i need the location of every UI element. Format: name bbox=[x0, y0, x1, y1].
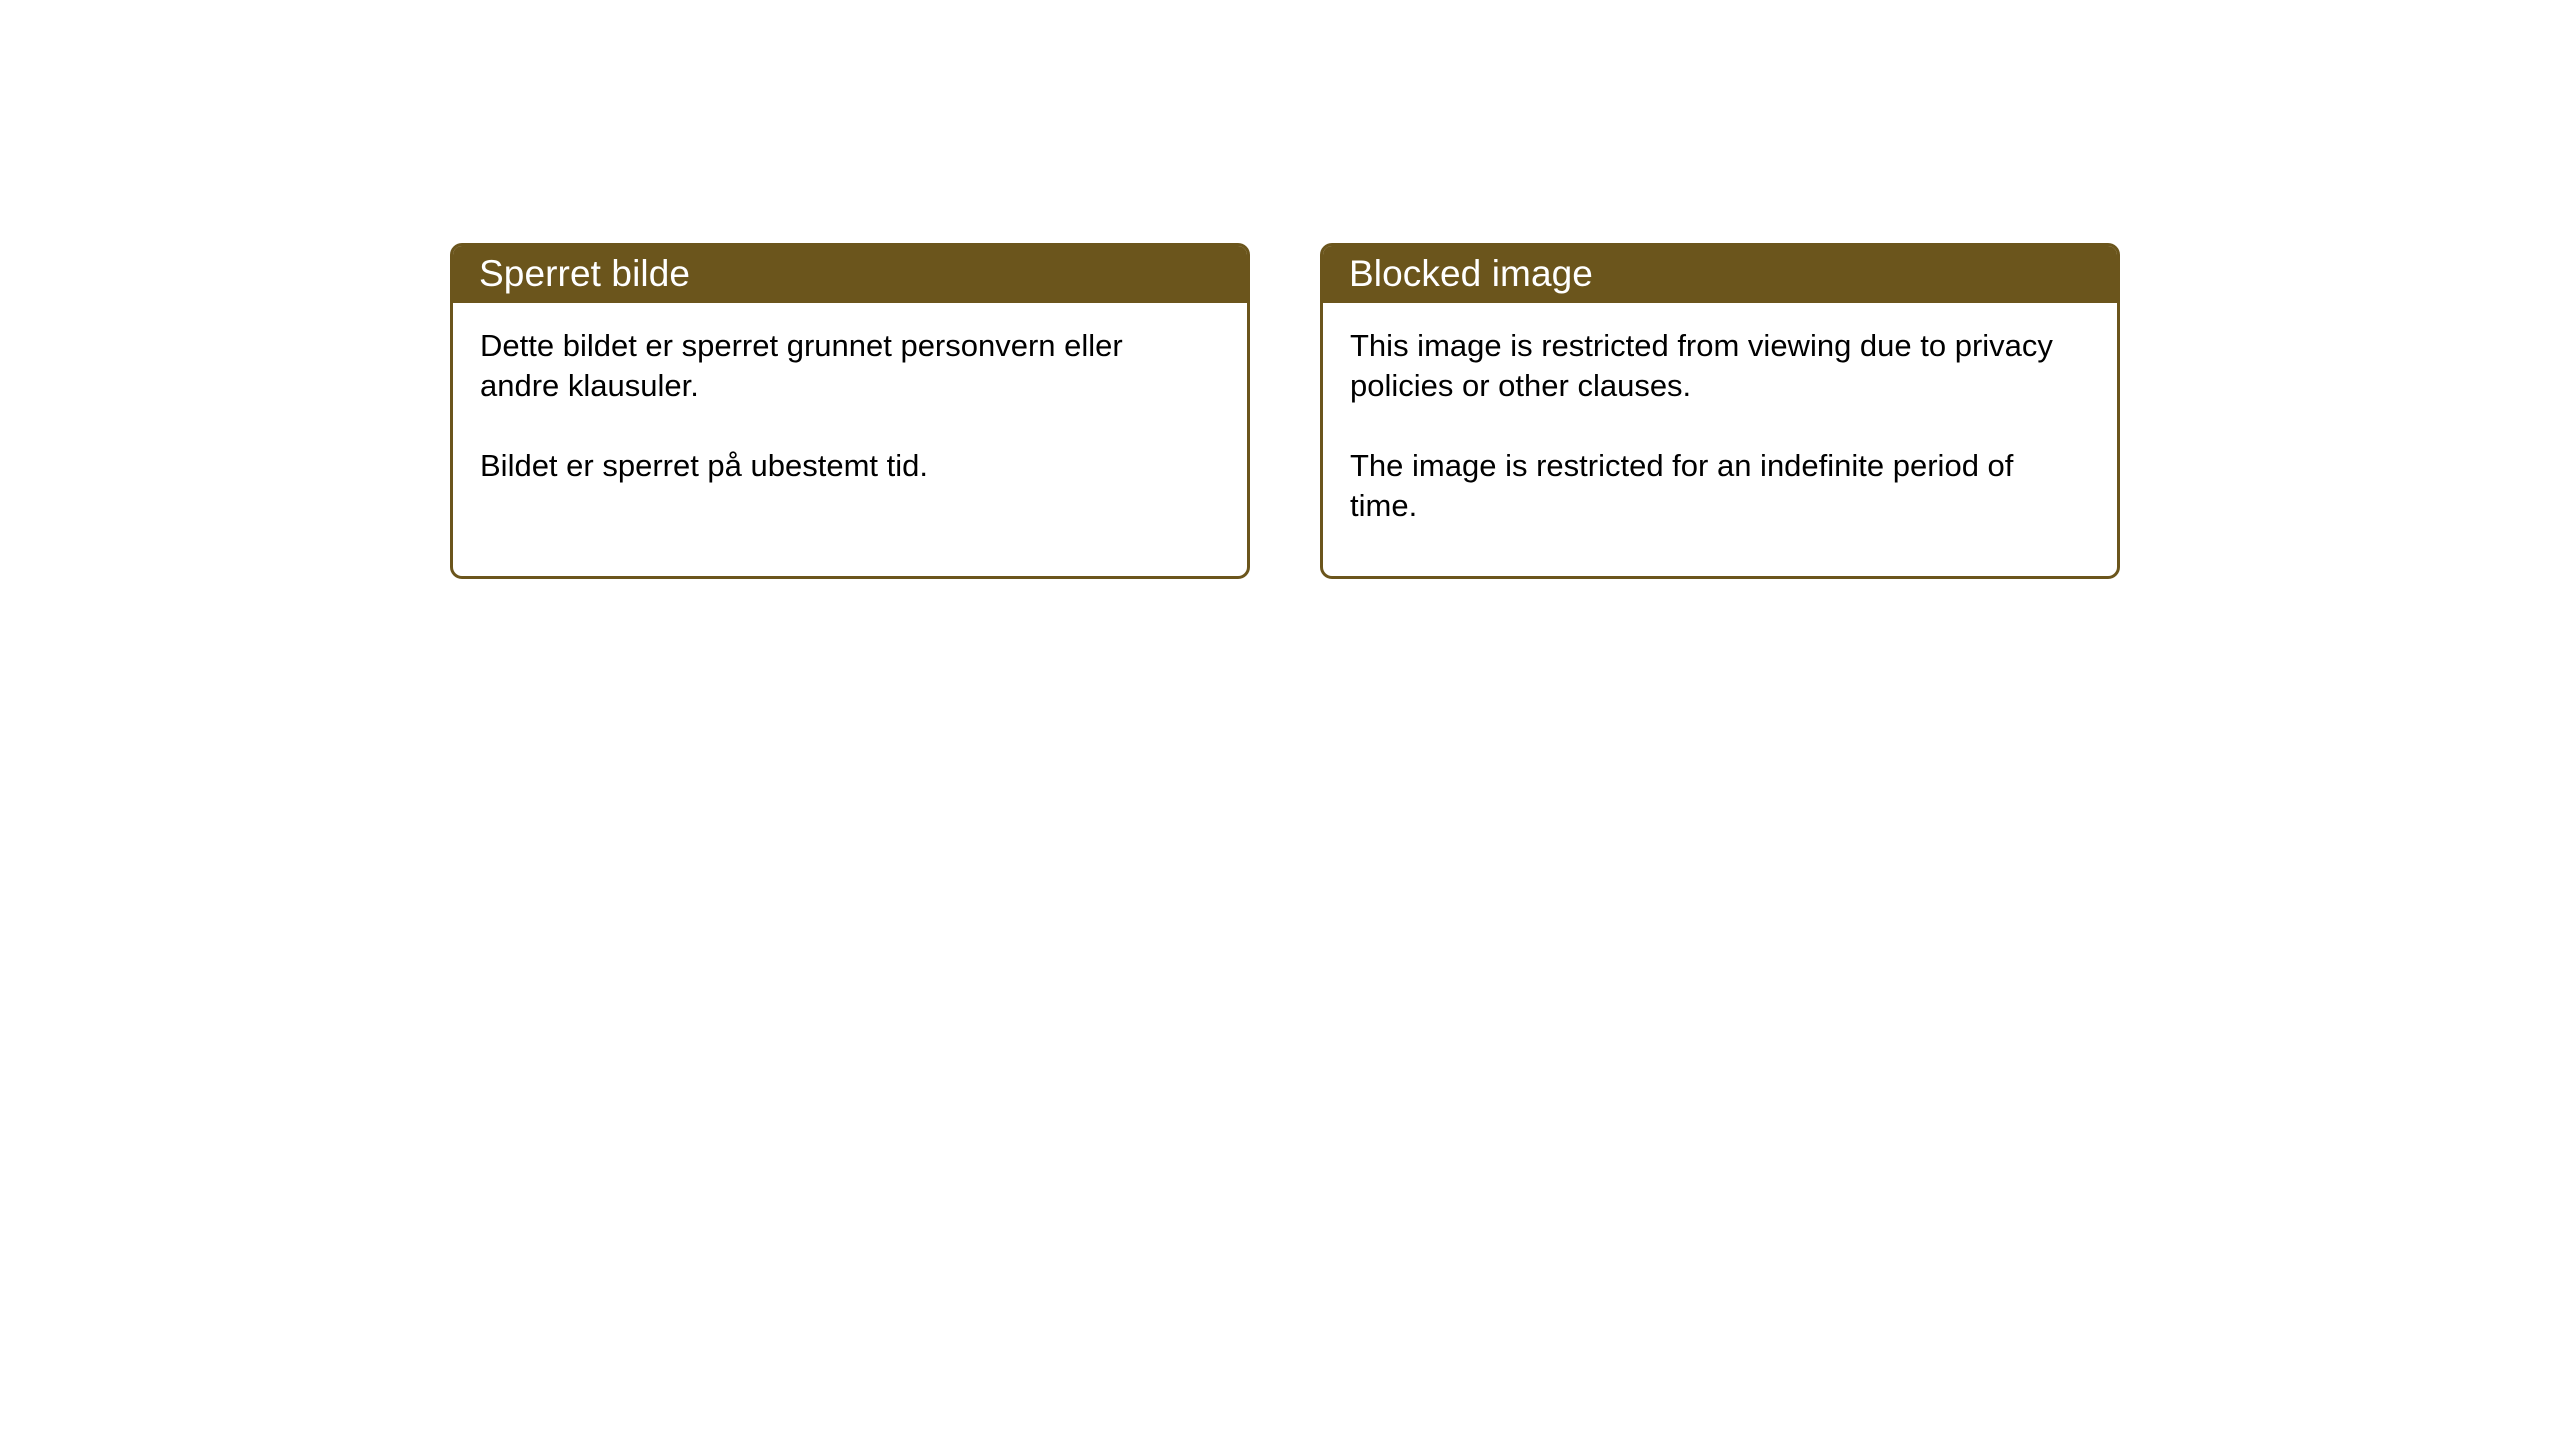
panel-body-english: This image is restricted from viewing du… bbox=[1323, 304, 2117, 576]
notice-paragraph-primary-english: This image is restricted from viewing du… bbox=[1350, 326, 2070, 406]
panel-title-norwegian: Sperret bilde bbox=[452, 255, 690, 292]
panel-body-norwegian: Dette bildet er sperret grunnet personve… bbox=[453, 304, 1247, 576]
notice-paragraph-duration-english: The image is restricted for an indefinit… bbox=[1350, 446, 2070, 526]
blocked-image-notice-norwegian: Sperret bilde Dette bildet er sperret gr… bbox=[450, 243, 1250, 579]
panel-header-norwegian: Sperret bilde bbox=[452, 245, 1248, 303]
notice-paragraph-primary-norwegian: Dette bildet er sperret grunnet personve… bbox=[480, 326, 1200, 406]
blocked-image-notice-english: Blocked image This image is restricted f… bbox=[1320, 243, 2120, 579]
panel-header-english: Blocked image bbox=[1322, 245, 2118, 303]
panel-title-english: Blocked image bbox=[1322, 255, 1593, 292]
notice-paragraph-duration-norwegian: Bildet er sperret på ubestemt tid. bbox=[480, 446, 1200, 486]
page-canvas: Sperret bilde Dette bildet er sperret gr… bbox=[0, 0, 2560, 1440]
